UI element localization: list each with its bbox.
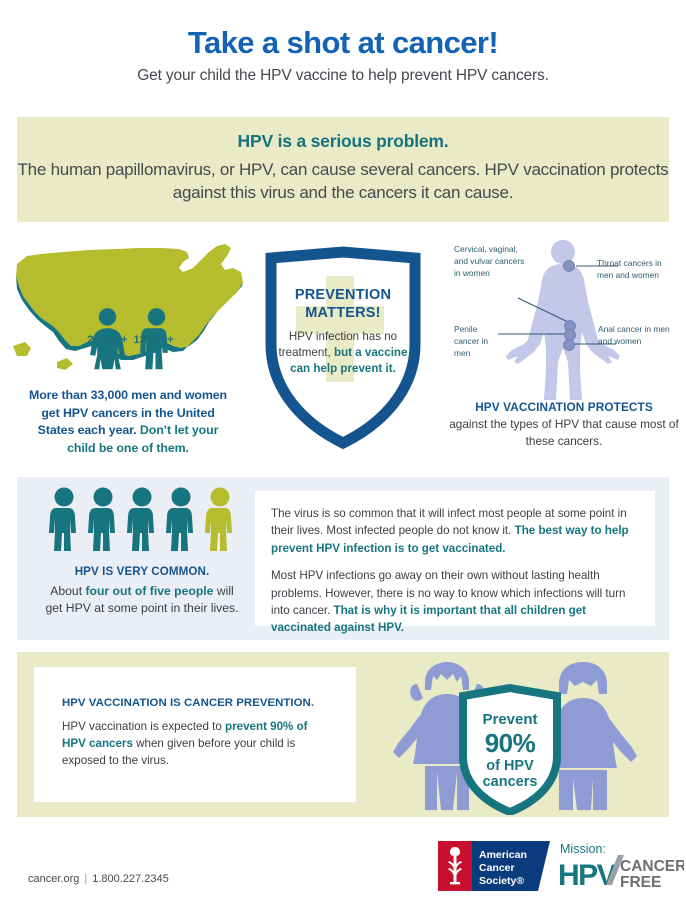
banner-body: The human papillomavirus, or HPV, can ca… xyxy=(17,158,669,205)
common-paragraph-box: The virus is so common that it will infe… xyxy=(255,491,655,626)
shield-line2: 90% xyxy=(463,729,557,758)
shield-line1: Prevent xyxy=(463,712,557,729)
free-word: FREE xyxy=(620,874,661,891)
shield-90-percent-text: Prevent 90% of HPV cancers xyxy=(463,712,557,790)
body-caption: HPV VACCINATION PROTECTS against the typ… xyxy=(448,400,680,449)
paragraph-1: The virus is so common that it will infe… xyxy=(271,505,639,557)
person-figure-icon xyxy=(125,487,159,553)
footer-website[interactable]: cancer.org xyxy=(28,873,79,885)
cancer-prevention-panel: HPV VACCINATION IS CANCER PREVENTION. HP… xyxy=(17,652,669,817)
common-body-pre: About xyxy=(50,584,85,598)
us-map-graphic: 20,000+ 13,000+ xyxy=(11,242,246,377)
common-body-bold: four out of five people xyxy=(85,584,213,598)
hpv-word: HPV xyxy=(558,859,617,892)
acs-line2: Cancer xyxy=(479,862,515,874)
stats-row: 20,000+ 13,000+ More than 33,000 men and… xyxy=(0,236,686,468)
footer-contact: cancer.org|1.800.227.2345 xyxy=(28,873,169,885)
body-caption-heading: HPV VACCINATION PROTECTS xyxy=(448,400,680,414)
prevention-heading: HPV VACCINATION IS CANCER PREVENTION. xyxy=(62,697,334,709)
label-anal: Anal cancer in men and women xyxy=(598,324,670,348)
serious-problem-banner: HPV is a serious problem. The human papi… xyxy=(17,117,669,222)
person-figure-icon xyxy=(86,487,120,553)
page-header: Take a shot at cancer! Get your child th… xyxy=(0,0,686,85)
mission-hpv-cancer-free-logo: Mission: HPV CANCER FREE xyxy=(558,842,684,892)
acs-line3: Society® xyxy=(479,875,524,887)
shield-text-block: PREVENTION MATTERS! HPV infection has no… xyxy=(270,286,416,377)
us-map-section: 20,000+ 13,000+ More than 33,000 men and… xyxy=(8,242,248,457)
women-count-label: 20,000+ xyxy=(87,334,127,346)
footer-phone[interactable]: 1.800.227.2345 xyxy=(92,873,168,885)
paragraph-2: Most HPV infections go away on their own… xyxy=(271,567,639,637)
person-figure-icon xyxy=(203,487,237,553)
hpv-common-section: HPV IS VERY COMMON. About four out of fi… xyxy=(33,487,251,617)
men-count-label: 13,000+ xyxy=(134,334,174,346)
prevention-text-box: HPV VACCINATION IS CANCER PREVENTION. HP… xyxy=(34,667,356,802)
body-cancer-sites-section: Cervical, vaginal, and vulvar cancers in… xyxy=(440,240,686,468)
label-cervical-vaginal-vulvar: Cervical, vaginal, and vulvar cancers in… xyxy=(454,244,526,280)
label-penile: Penile cancer in men xyxy=(454,324,502,360)
hpv-common-panel: HPV IS VERY COMMON. About four out of fi… xyxy=(17,477,669,640)
prevention-body-pre: HPV vaccination is expected to xyxy=(62,720,225,733)
mission-word: Mission: xyxy=(560,842,606,856)
prevention-body: HPV vaccination is expected to prevent 9… xyxy=(62,718,334,769)
five-people-graphic xyxy=(33,487,251,553)
map-figure-labels: 20,000+ 13,000+ xyxy=(71,334,191,346)
shield-line4: cancers xyxy=(463,774,557,790)
american-cancer-society-logo: American Cancer Society® xyxy=(438,841,550,891)
shield-line3: of HPV xyxy=(463,758,557,774)
page-title: Take a shot at cancer! xyxy=(0,26,686,60)
common-heading: HPV IS VERY COMMON. xyxy=(33,565,251,578)
person-figure-icon xyxy=(47,487,81,553)
footer-divider: | xyxy=(79,873,92,885)
banner-heading: HPV is a serious problem. xyxy=(17,131,669,152)
page-subtitle: Get your child the HPV vaccine to help p… xyxy=(0,67,686,85)
logos-group: American Cancer Society® Mission: HPV CA… xyxy=(434,835,684,897)
page-footer: cancer.org|1.800.227.2345 American Cance… xyxy=(0,825,686,908)
label-throat: Throat cancers in men and women xyxy=(597,258,671,282)
common-body: About four out of five people will get H… xyxy=(33,583,251,617)
body-caption-body: against the types of HPV that cause most… xyxy=(448,416,680,449)
shield-headline-line1: PREVENTION xyxy=(270,286,416,304)
person-figure-icon xyxy=(164,487,198,553)
prevention-shield-section: PREVENTION MATTERS! HPV infection has no… xyxy=(248,238,438,463)
cancer-word: CANCER xyxy=(620,858,684,875)
footer-logos: American Cancer Society® Mission: HPV CA… xyxy=(434,835,684,897)
acs-line1: American xyxy=(479,849,527,861)
kids-shield-graphic: Prevent 90% of HPV cancers xyxy=(387,660,662,815)
shield-headline-line2: MATTERS! xyxy=(270,304,416,322)
